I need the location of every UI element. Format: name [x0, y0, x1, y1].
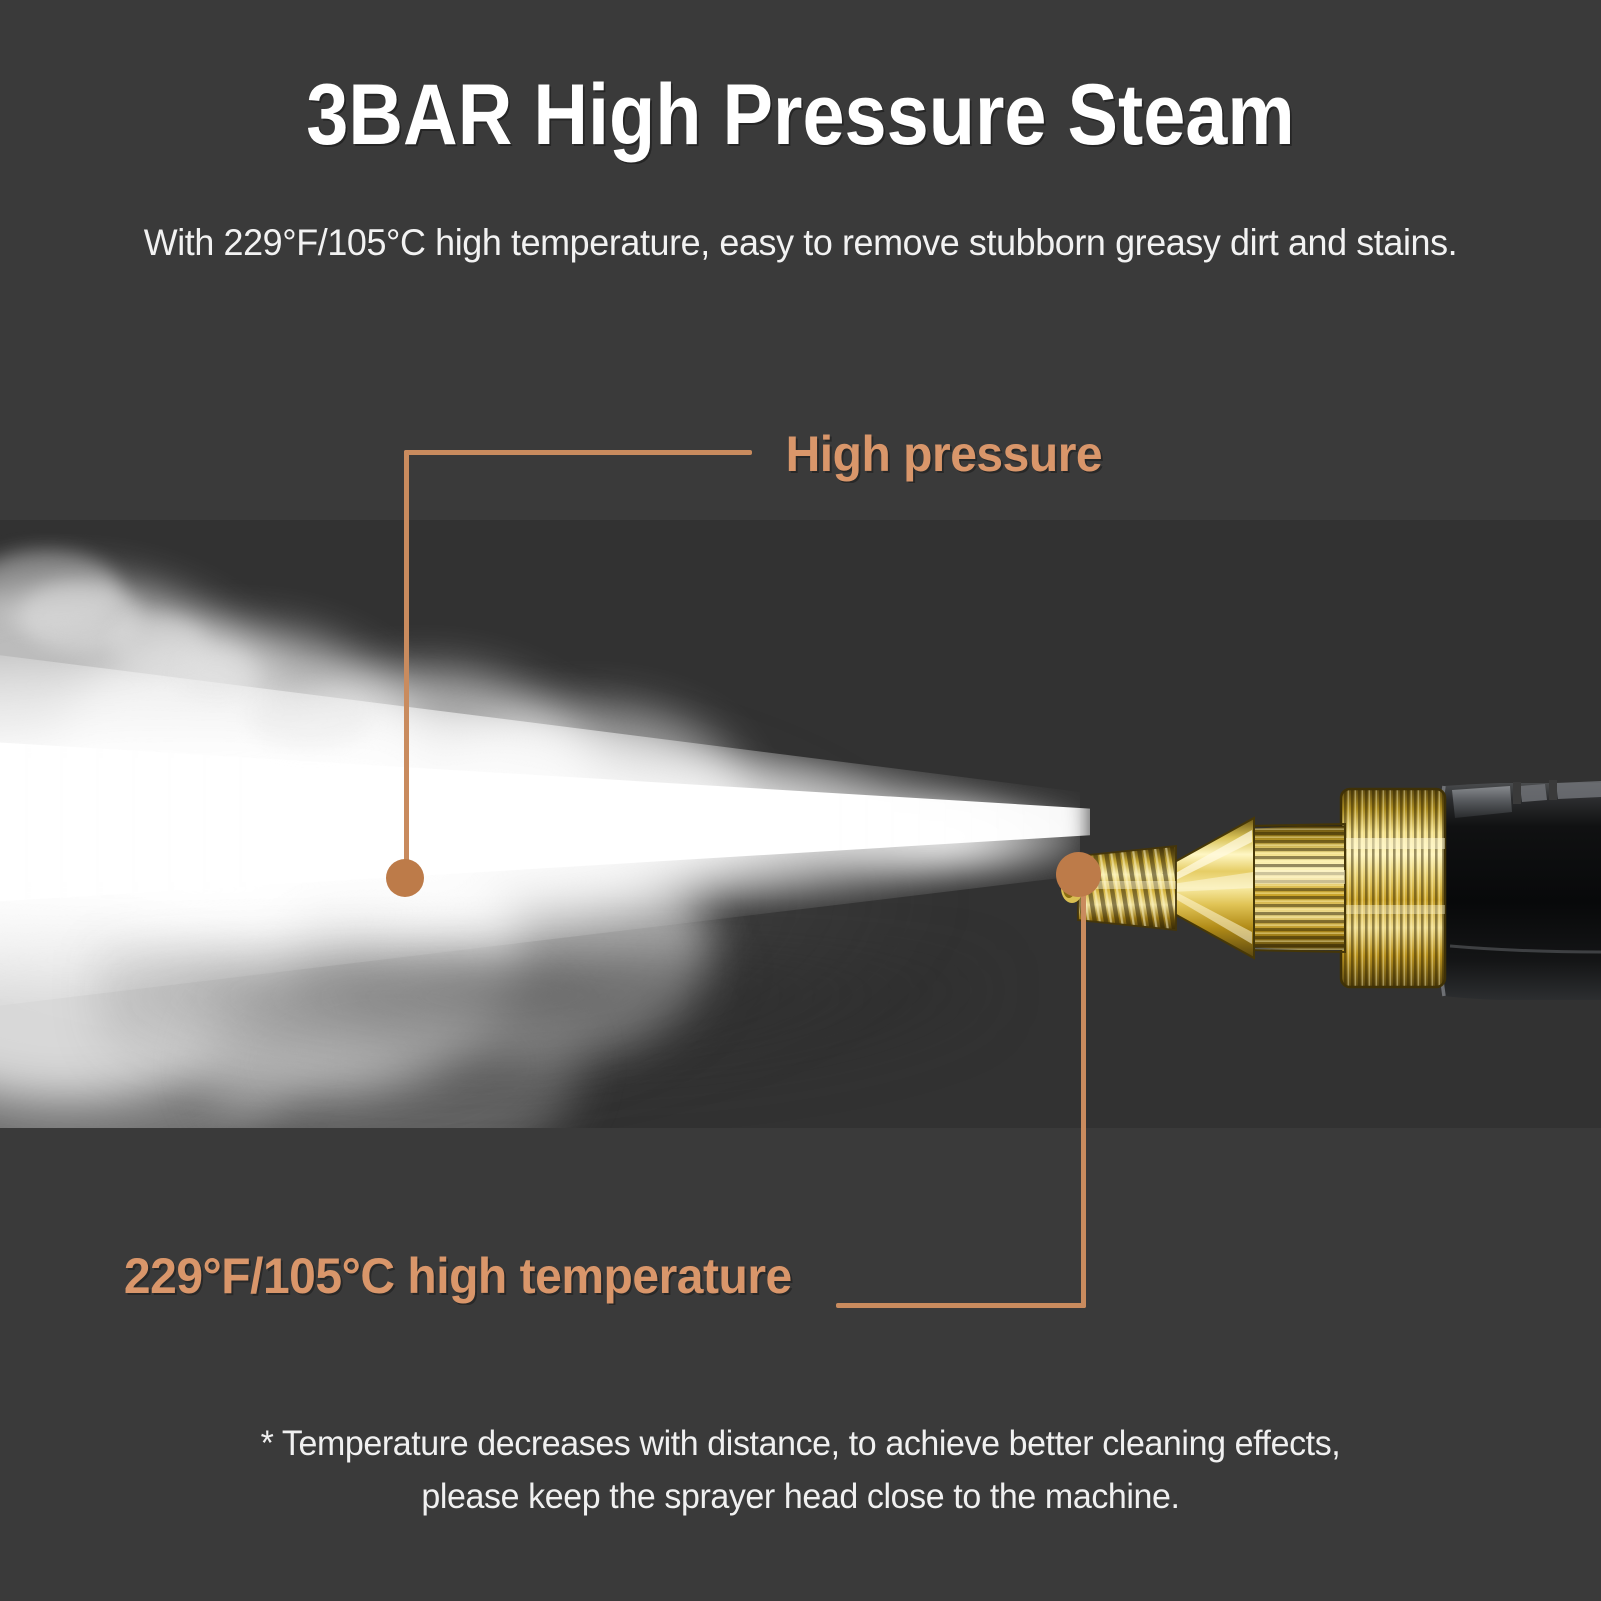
footnote-line-2: please keep the sprayer head close to th… — [24, 1471, 1577, 1524]
steam-undershadow — [100, 950, 1000, 1128]
page-title: 3BAR High Pressure Steam — [96, 72, 1505, 158]
high-pressure-callout-line-vertical — [404, 450, 409, 870]
temperature-callout-line-vertical — [1081, 880, 1086, 1308]
steam-wisp — [178, 650, 256, 696]
product-infographic: 3BAR High Pressure Steam With 229°F/105°… — [0, 0, 1601, 1601]
temperature-callout-line-horizontal — [836, 1303, 1086, 1308]
footnote: * Temperature decreases with distance, t… — [24, 1418, 1577, 1523]
high-pressure-label: High pressure — [786, 425, 1103, 483]
footnote-line-1: * Temperature decreases with distance, t… — [24, 1418, 1577, 1471]
temperature-label: 229°F/105°C high temperature — [124, 1247, 792, 1305]
high-pressure-callout-line-horizontal — [404, 450, 752, 455]
steam-wisp — [250, 688, 370, 748]
steam-photo — [0, 520, 1601, 1128]
nozzle-marker-dot — [1056, 852, 1101, 897]
page-subtitle: With 229°F/105°C high temperature, easy … — [24, 222, 1577, 264]
high-pressure-marker-dot — [386, 859, 424, 897]
